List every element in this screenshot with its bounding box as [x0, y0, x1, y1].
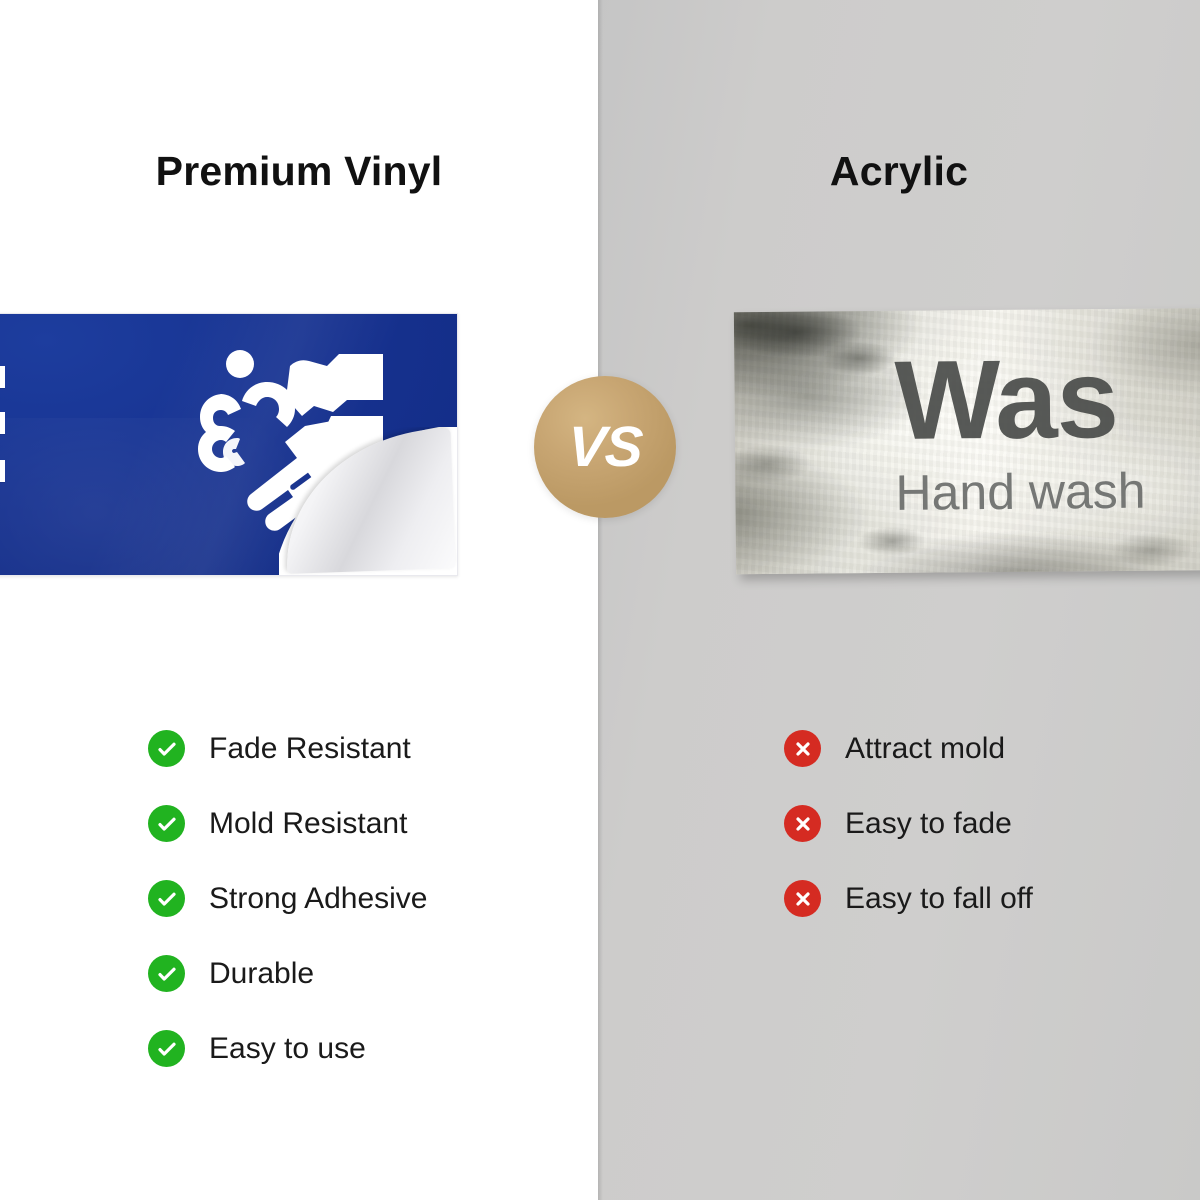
vs-badge-label: VS: [566, 414, 644, 480]
vs-badge: VS: [534, 376, 676, 518]
letter-e-fragment: [0, 366, 5, 482]
pros-list: Fade Resistant Mold Resistant Strong Adh…: [148, 711, 427, 1086]
cross-icon: [784, 730, 821, 767]
check-icon: [148, 955, 185, 992]
list-item-label: Easy to fade: [845, 807, 1012, 841]
acrylic-subline: Hand wash: [895, 465, 1200, 518]
cons-list: Attract mold Easy to fade Easy to fall o…: [784, 711, 1033, 936]
check-icon: [148, 805, 185, 842]
acrylic-sign-text: Was Hand wash: [734, 308, 1200, 575]
list-item-label: Strong Adhesive: [209, 882, 427, 916]
panel-premium-vinyl: Premium Vinyl: [0, 0, 598, 1200]
list-item: Easy to use: [148, 1011, 427, 1086]
list-item-label: Attract mold: [845, 732, 1005, 766]
vinyl-sign-image: [0, 313, 458, 576]
check-icon: [148, 1030, 185, 1067]
check-icon: [148, 880, 185, 917]
acrylic-sign-image: Was Hand wash: [734, 308, 1200, 575]
list-item-label: Fade Resistant: [209, 732, 411, 766]
acrylic-headline: Was: [894, 345, 1200, 455]
list-item: Durable: [148, 936, 427, 1011]
panel-title-right: Acrylic: [598, 148, 1200, 195]
panel-title-left: Premium Vinyl: [0, 148, 598, 195]
list-item: Easy to fade: [784, 786, 1033, 861]
comparison-graphic: Premium Vinyl: [0, 0, 1200, 1200]
list-item-label: Easy to use: [209, 1032, 366, 1066]
handwashing-icon: [193, 342, 403, 542]
cross-icon: [784, 880, 821, 917]
panel-acrylic: Acrylic Was Hand wash Attract mold: [598, 0, 1200, 1200]
check-icon: [148, 730, 185, 767]
list-item: Easy to fall off: [784, 861, 1033, 936]
list-item-label: Mold Resistant: [209, 807, 407, 841]
cross-icon: [784, 805, 821, 842]
list-item: Mold Resistant: [148, 786, 427, 861]
list-item: Fade Resistant: [148, 711, 427, 786]
list-item-label: Easy to fall off: [845, 882, 1033, 916]
list-item: Attract mold: [784, 711, 1033, 786]
list-item: Strong Adhesive: [148, 861, 427, 936]
list-item-label: Durable: [209, 957, 314, 991]
